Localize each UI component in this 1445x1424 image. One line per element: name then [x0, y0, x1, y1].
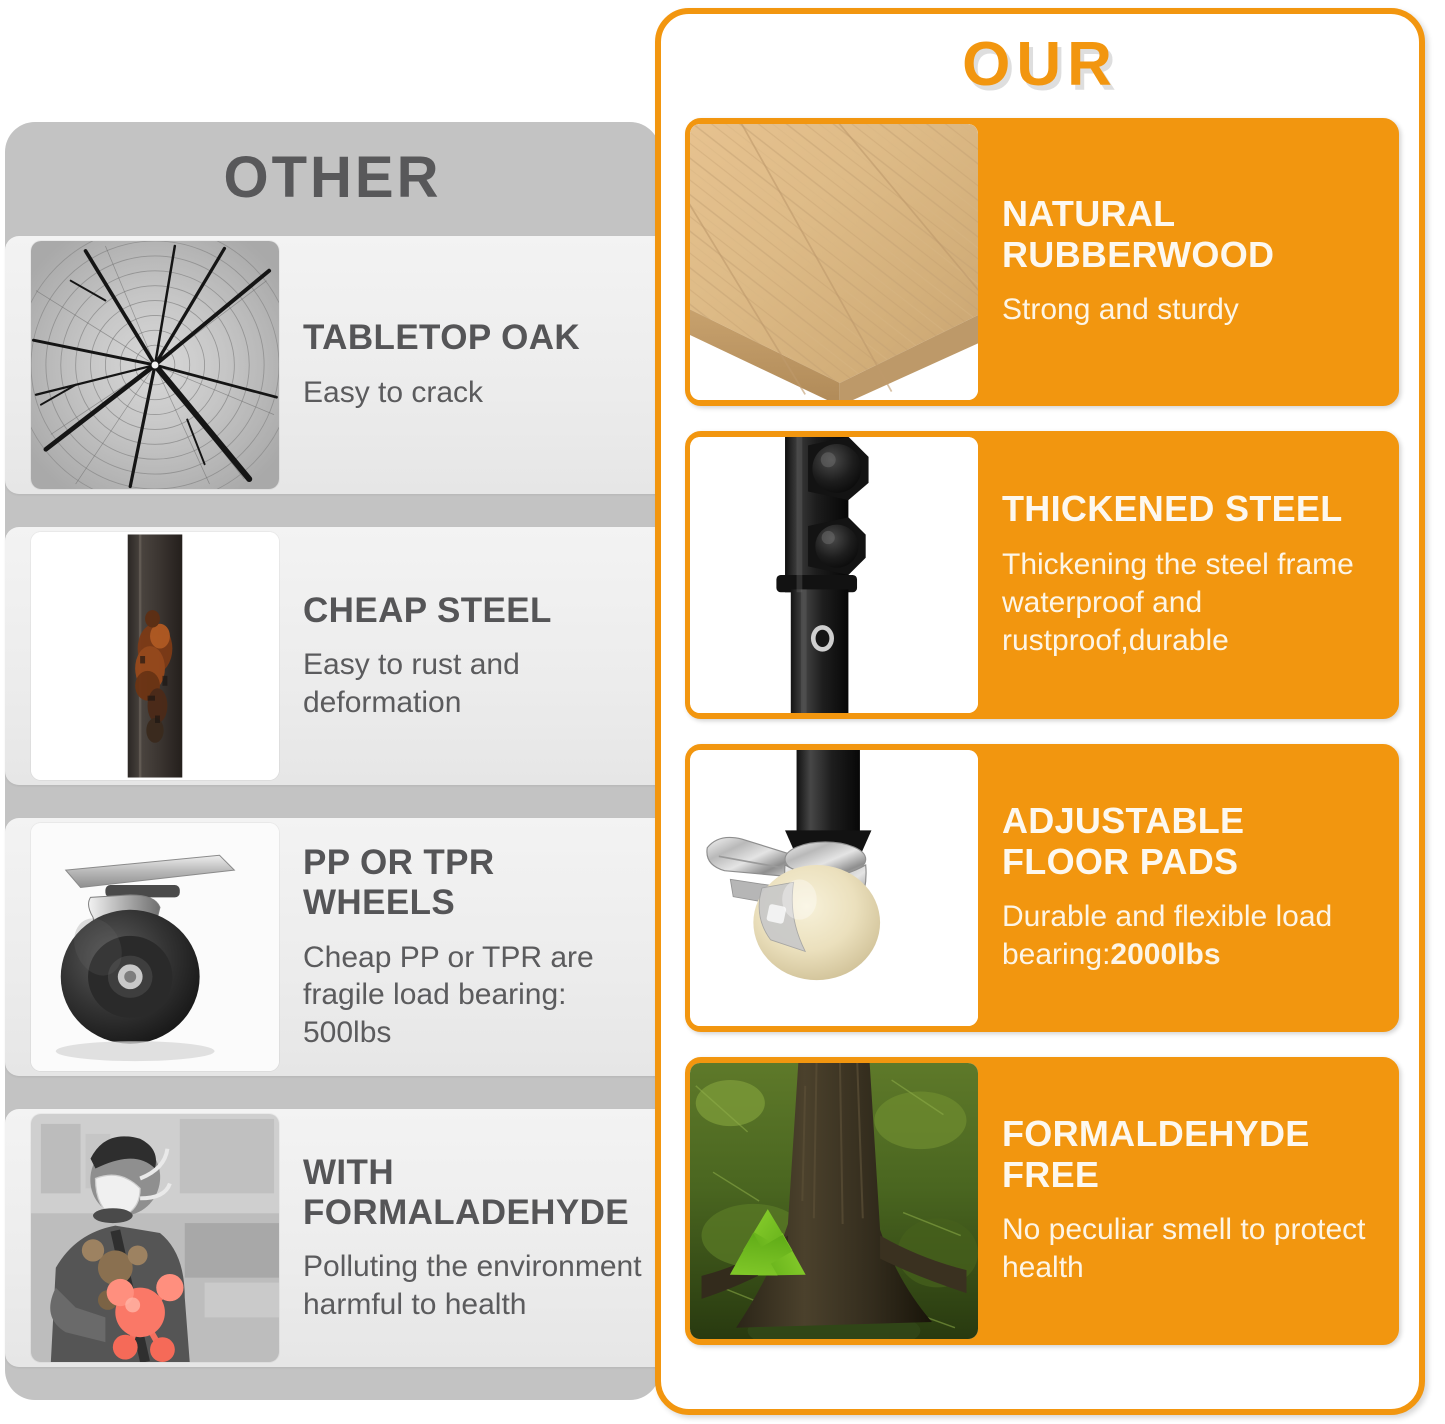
our-card-adjustable-floor-pads: ADJUSTABLE FLOOR PADS Durable and flexib… — [685, 744, 1399, 1032]
other-card-heading: WITH FORMALADEHYDE — [303, 1153, 654, 1233]
worker-with-mask-image — [31, 1114, 279, 1362]
other-card-body: TABLETOP OAK Easy to crack — [279, 318, 660, 411]
our-card-body: FORMALDEHYDE FREE No peculiar smell to p… — [978, 1114, 1394, 1287]
our-card-natural-rubberwood: NATURAL RUBBERWOOD Strong and sturdy — [685, 118, 1399, 406]
black-caster-wheel-icon — [31, 823, 279, 1071]
chrome-caster-with-brake-icon — [690, 750, 978, 1026]
other-card-description: Cheap PP or TPR are fragile load bearing… — [303, 939, 654, 1052]
our-card-heading: THICKENED STEEL — [1002, 489, 1380, 529]
other-card-heading: CHEAP STEEL — [303, 591, 654, 631]
other-card-list: TABLETOP OAK Easy to crack — [5, 236, 660, 1400]
forest-tree-with-recycle-symbol-icon — [690, 1063, 978, 1339]
our-card-body: ADJUSTABLE FLOOR PADS Durable and flexib… — [978, 801, 1394, 974]
other-card-body: WITH FORMALADEHYDE Polluting the environ… — [279, 1153, 660, 1324]
our-card-heading: NATURAL RUBBERWOOD — [1002, 194, 1380, 275]
our-card-list: NATURAL RUBBERWOOD Strong and sturdy — [685, 118, 1399, 1370]
other-panel-title: OTHER — [5, 122, 660, 209]
other-card-heading: PP OR TPR WHEELS — [303, 843, 654, 923]
our-panel-title: OUR — [661, 14, 1419, 96]
our-card-description-text: Thickening the steel frame waterproof an… — [1002, 548, 1354, 658]
other-card-cheap-steel: CHEAP STEEL Easy to rust and deformation — [5, 527, 660, 785]
our-card-description: Durable and flexible load bearing:2000lb… — [1002, 898, 1380, 975]
other-card-heading: TABLETOP OAK — [303, 318, 654, 358]
our-card-description: Strong and sturdy — [1002, 291, 1380, 329]
worker-with-mask-and-molecule-icon — [31, 1114, 279, 1362]
our-card-description-bold: 2000lbs — [1110, 938, 1220, 971]
other-card-description: Easy to rust and deformation — [303, 646, 654, 721]
our-card-thickened-steel: THICKENED STEEL Thickening the steel fra… — [685, 431, 1399, 719]
our-card-body: THICKENED STEEL Thickening the steel fra… — [978, 489, 1394, 660]
chrome-caster-image — [690, 750, 978, 1026]
our-card-body: NATURAL RUBBERWOOD Strong and sturdy — [978, 194, 1394, 329]
our-card-heading: ADJUSTABLE FLOOR PADS — [1002, 801, 1380, 882]
our-card-formaldehyde-free: FORMALDEHYDE FREE No peculiar smell to p… — [685, 1057, 1399, 1345]
rubberwood-tabletop-image — [690, 124, 978, 400]
other-card-description: Polluting the environment harmful to hea… — [303, 1248, 654, 1323]
rusty-steel-bar-image — [31, 532, 279, 780]
our-card-description: Thickening the steel frame waterproof an… — [1002, 546, 1380, 661]
our-card-description-text: Strong and sturdy — [1002, 293, 1239, 326]
other-card-pp-tpr-wheels: PP OR TPR WHEELS Cheap PP or TPR are fra… — [5, 818, 660, 1076]
black-steel-tube-image — [690, 437, 978, 713]
other-card-tabletop-oak: TABLETOP OAK Easy to crack — [5, 236, 660, 494]
cracked-oak-log-icon — [31, 241, 279, 489]
forest-tree-image — [690, 1063, 978, 1339]
rubberwood-tabletop-corner-icon — [690, 124, 978, 400]
black-steel-tube-leg-icon — [690, 437, 978, 713]
our-card-description: No peculiar smell to protect health — [1002, 1211, 1380, 1288]
our-card-description-text: No peculiar smell to protect health — [1002, 1213, 1366, 1284]
other-card-description: Easy to crack — [303, 374, 654, 412]
other-card-body: PP OR TPR WHEELS Cheap PP or TPR are fra… — [279, 843, 660, 1051]
our-comparison-panel: OUR — [655, 8, 1425, 1415]
other-comparison-panel: OTHER — [5, 122, 660, 1400]
other-card-body: CHEAP STEEL Easy to rust and deformation — [279, 591, 660, 722]
cracked-oak-log-image — [31, 241, 279, 489]
our-card-heading: FORMALDEHYDE FREE — [1002, 1114, 1380, 1195]
rusty-steel-bar-icon — [31, 532, 279, 780]
other-card-with-formaladehyde: WITH FORMALADEHYDE Polluting the environ… — [5, 1109, 660, 1367]
black-caster-wheel-image — [31, 823, 279, 1071]
